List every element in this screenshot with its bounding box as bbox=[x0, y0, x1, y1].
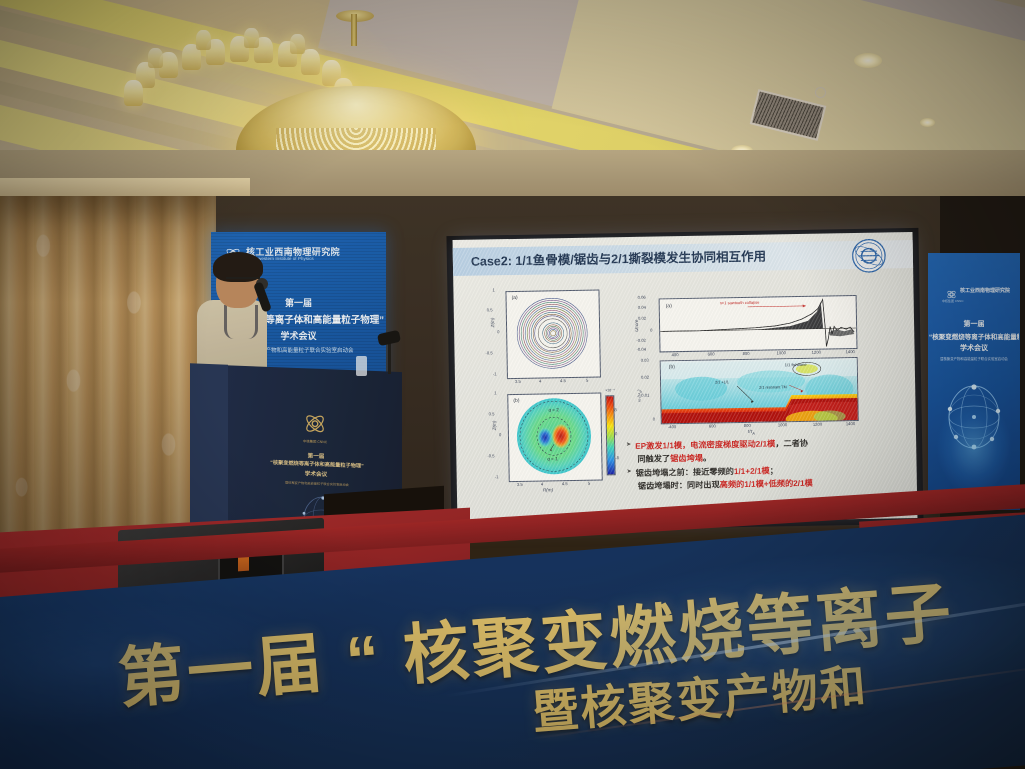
downlight-icon bbox=[920, 118, 935, 127]
lanyard bbox=[224, 305, 258, 339]
banner-line4: 暨核聚变产物和高能量粒子联合实验室启动会 bbox=[931, 356, 1017, 361]
microphone-stand bbox=[388, 340, 391, 374]
podium-line4: 暨核聚变产物和高能量粒子联合实验室启动会 bbox=[260, 479, 374, 488]
banner-line2: “核聚变燃烧等离子体和高能量粒…” bbox=[929, 331, 1019, 341]
downlight-icon bbox=[854, 53, 882, 68]
banner-line3: 学术会议 bbox=[928, 343, 1020, 353]
cornice bbox=[0, 178, 250, 198]
conference-hall-photo: 核工业西南物理研究院 Southwestern Institute of Phy… bbox=[0, 0, 1025, 769]
banner-org-name-cn: 核工业西南物理研究院 bbox=[960, 287, 1016, 294]
screen-fabric-texture bbox=[453, 232, 918, 526]
cnnc-logo-icon bbox=[946, 287, 957, 298]
chandelier-rod bbox=[351, 14, 357, 46]
curtain-shading bbox=[0, 196, 216, 551]
banner-line1: 第一届 bbox=[928, 319, 1020, 329]
banner-org-sub: 中核集团 CNNC bbox=[942, 299, 972, 303]
podium-line3: 学术会议 bbox=[270, 468, 362, 480]
podium-side-face bbox=[190, 363, 228, 542]
podium-org-sub: 中核集团 CNNC bbox=[290, 438, 340, 445]
atom-logo-icon bbox=[302, 410, 328, 437]
water-bottle bbox=[356, 356, 367, 376]
